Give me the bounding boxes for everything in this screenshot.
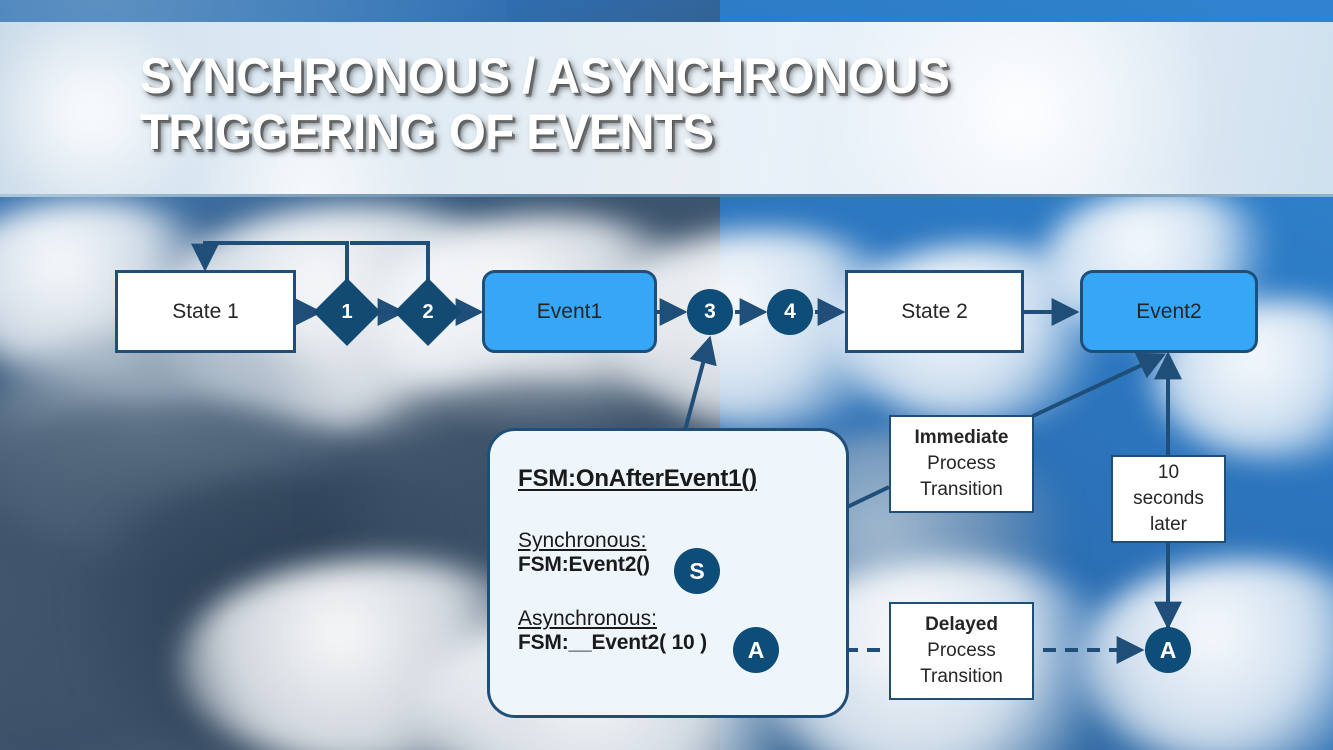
- callout-spacer: [518, 577, 832, 607]
- node-state-2-label: State 2: [901, 300, 968, 324]
- callout-spacer: [518, 493, 832, 529]
- node-event-1-label: Event1: [537, 300, 602, 324]
- node-event-2[interactable]: Event2: [1080, 270, 1258, 353]
- node-circle-4-label: 4: [784, 300, 796, 324]
- node-event-2-label: Event2: [1136, 300, 1201, 324]
- node-circle-a-left-label: A: [748, 637, 765, 664]
- callout-sync-label: Synchronous:: [518, 529, 832, 553]
- callout-panel[interactable]: FSM:OnAfterEvent1() Synchronous: FSM:Eve…: [487, 428, 849, 718]
- node-circle-a-right[interactable]: A: [1145, 627, 1191, 673]
- node-event-1[interactable]: Event1: [482, 270, 657, 353]
- note-ten-seconds-line-1: 10: [1158, 460, 1179, 486]
- node-circle-s[interactable]: S: [674, 548, 720, 594]
- node-diamond-1-label: 1: [323, 288, 371, 336]
- node-circle-a-right-label: A: [1160, 637, 1177, 664]
- callout-title: FSM:OnAfterEvent1(): [518, 465, 832, 493]
- node-state-2[interactable]: State 2: [845, 270, 1024, 353]
- node-circle-s-label: S: [689, 558, 704, 585]
- node-circle-a-left[interactable]: A: [733, 627, 779, 673]
- note-ten-seconds-line-3: later: [1150, 512, 1187, 538]
- note-delayed-line-2: Process: [927, 638, 996, 664]
- note-ten-seconds-later[interactable]: 10 seconds later: [1111, 455, 1226, 543]
- note-delayed-process-transition[interactable]: Delayed Process Transition: [889, 602, 1034, 700]
- node-circle-3[interactable]: 3: [687, 289, 733, 335]
- callout-async-code: FSM:__Event2( 10 ): [518, 631, 832, 655]
- node-state-1-label: State 1: [172, 300, 239, 324]
- slide-canvas: SYNCHRONOUS / ASYNCHRONOUS TRIGGERING OF…: [0, 0, 1333, 750]
- callout-async-label: Asynchronous:: [518, 607, 832, 631]
- note-immediate-line-1: Immediate: [915, 425, 1009, 451]
- note-delayed-line-1: Delayed: [925, 612, 998, 638]
- node-state-1[interactable]: State 1: [115, 270, 296, 353]
- note-immediate-process-transition[interactable]: Immediate Process Transition: [889, 415, 1034, 513]
- note-immediate-line-3: Transition: [920, 477, 1003, 503]
- note-delayed-line-3: Transition: [920, 664, 1003, 690]
- node-circle-4[interactable]: 4: [767, 289, 813, 335]
- note-ten-seconds-line-2: seconds: [1133, 486, 1204, 512]
- node-diamond-2-label: 2: [404, 288, 452, 336]
- node-circle-3-label: 3: [704, 300, 716, 324]
- note-immediate-line-2: Process: [927, 451, 996, 477]
- diagram: A(right) --> State 1 1 2 Event1 3 4 S: [0, 0, 1333, 750]
